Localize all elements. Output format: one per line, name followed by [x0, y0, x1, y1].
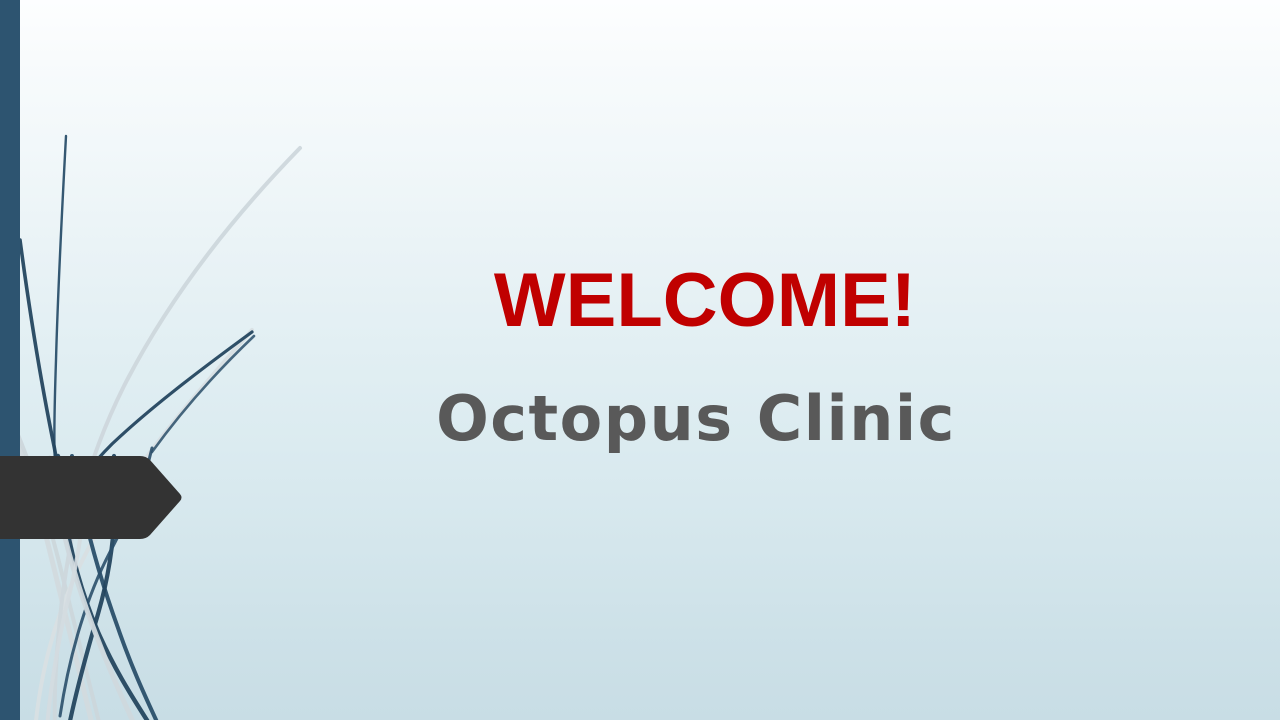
- slide-text-block: WELCOME! Octopus Clinic: [205, 255, 1205, 457]
- left-accent-bar: [0, 0, 20, 720]
- chevron-shape: [0, 456, 182, 539]
- page-title: WELCOME!: [205, 255, 1205, 347]
- slide-subtitle: Octopus Clinic: [187, 381, 1205, 457]
- presentation-slide: WELCOME! Octopus Clinic: [0, 0, 1280, 720]
- swoosh-dark-2: [20, 240, 57, 463]
- dark-chevron-banner: [0, 456, 183, 539]
- swoosh-dark-1: [54, 136, 66, 462]
